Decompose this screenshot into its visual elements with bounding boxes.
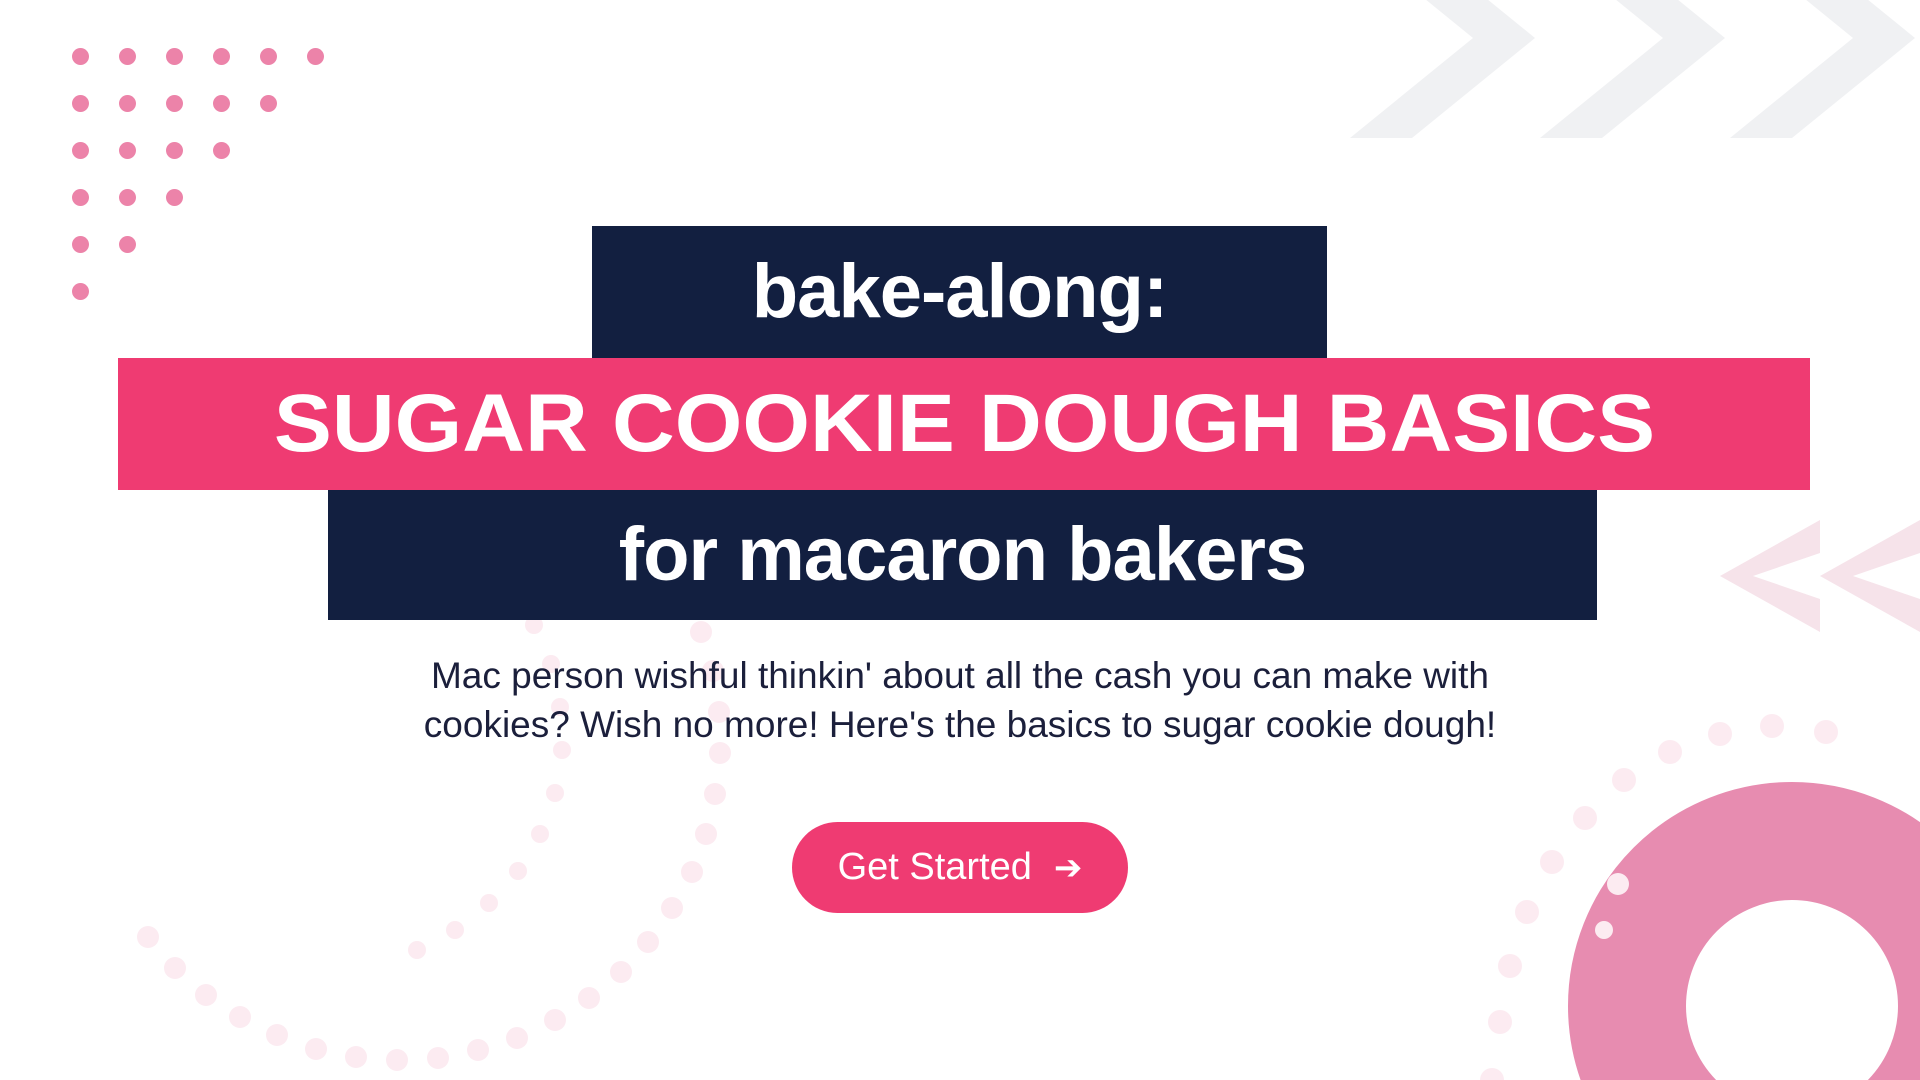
get-started-label: Get Started	[838, 846, 1032, 889]
heading-line-1: bake-along:	[752, 254, 1168, 330]
banner-content: bake-along: SUGAR COOKIE DOUGH BASICS fo…	[0, 0, 1920, 1080]
arrow-right-icon: ➔	[1054, 851, 1083, 885]
banner-canvas: bake-along: SUGAR COOKIE DOUGH BASICS fo…	[0, 0, 1920, 1080]
heading-band-top: bake-along:	[592, 226, 1327, 358]
get-started-button[interactable]: Get Started ➔	[792, 822, 1129, 913]
subtitle: Mac person wishful thinkin' about all th…	[0, 652, 1920, 750]
heading-band-middle: SUGAR COOKIE DOUGH BASICS	[118, 358, 1810, 490]
heading-line-3: for macaron bakers	[619, 517, 1306, 593]
heading-line-2: SUGAR COOKIE DOUGH BASICS	[273, 383, 1654, 465]
cta-container: Get Started ➔	[0, 822, 1920, 913]
heading-band-bottom: for macaron bakers	[328, 490, 1597, 620]
subtitle-line-2: cookies? Wish no more! Here's the basics…	[0, 701, 1920, 750]
subtitle-line-1: Mac person wishful thinkin' about all th…	[0, 652, 1920, 701]
